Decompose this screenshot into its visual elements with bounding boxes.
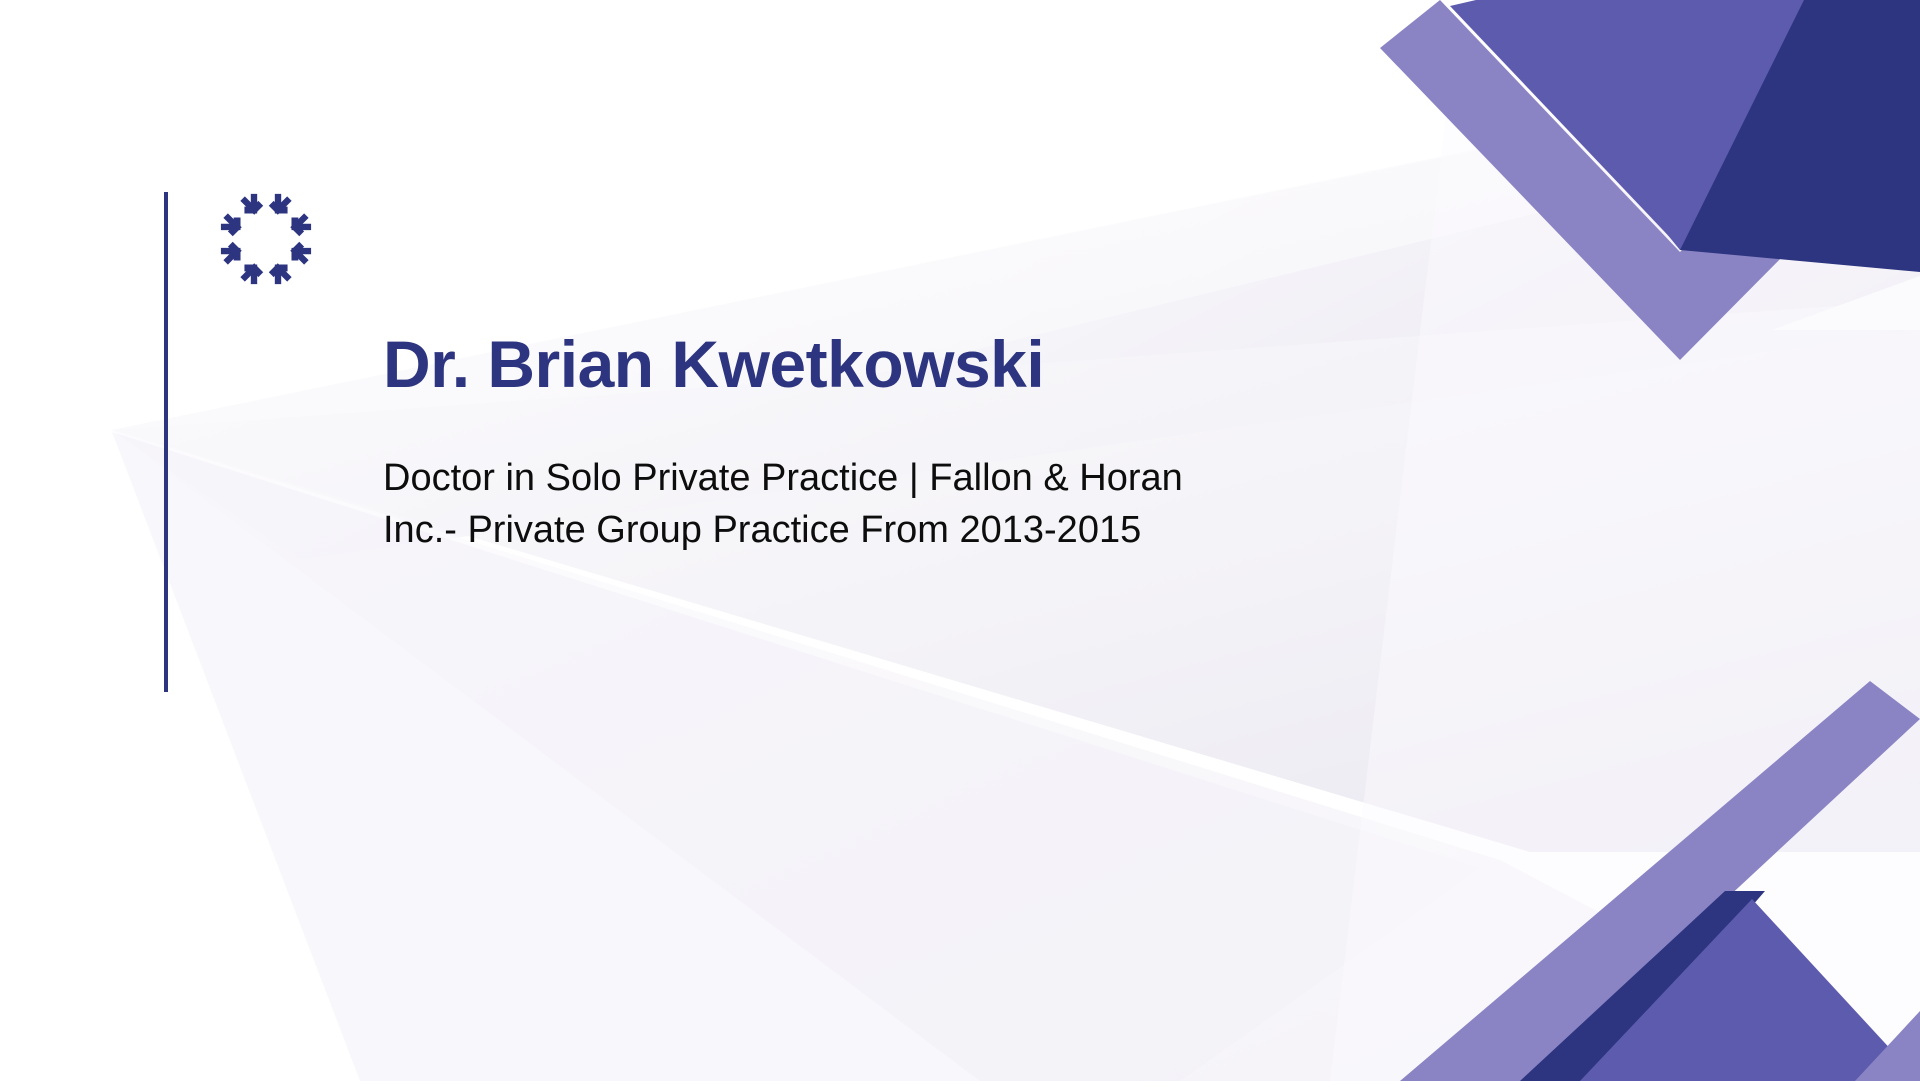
slide-text-block: Dr. Brian Kwetkowski Doctor in Solo Priv… — [383, 330, 1283, 556]
chevron-outer-light — [1380, 0, 1920, 360]
radial-chevron-burst-icon — [216, 190, 316, 288]
chevron-group-top-right — [1380, 0, 1920, 390]
chevron-mid-purple-fill — [1476, 0, 1920, 250]
chevron-triangle-mid — [1580, 899, 1920, 1081]
bottom-right-chevron-decoration — [1400, 681, 1920, 1081]
page-title: Dr. Brian Kwetkowski — [383, 330, 1283, 399]
chevron-white-notch — [1772, 276, 1920, 330]
chevron-inner-navy — [1680, 0, 1920, 272]
top-right-chevron-decoration — [1380, 0, 1920, 390]
presentation-slide: Dr. Brian Kwetkowski Doctor in Solo Priv… — [0, 0, 1920, 1081]
chevron-band-light — [1400, 681, 1920, 1081]
slide-subtitle: Doctor in Solo Private Practice | Fallon… — [383, 399, 1228, 556]
logo-svg — [216, 190, 316, 288]
chevron-group-bottom-right — [1400, 681, 1920, 1081]
chevron-edge-navy — [1520, 891, 1765, 1081]
vertical-accent-line — [164, 192, 168, 692]
chevron-mid-purple — [1450, 0, 1920, 248]
chevron-return-light — [1855, 1011, 1920, 1081]
